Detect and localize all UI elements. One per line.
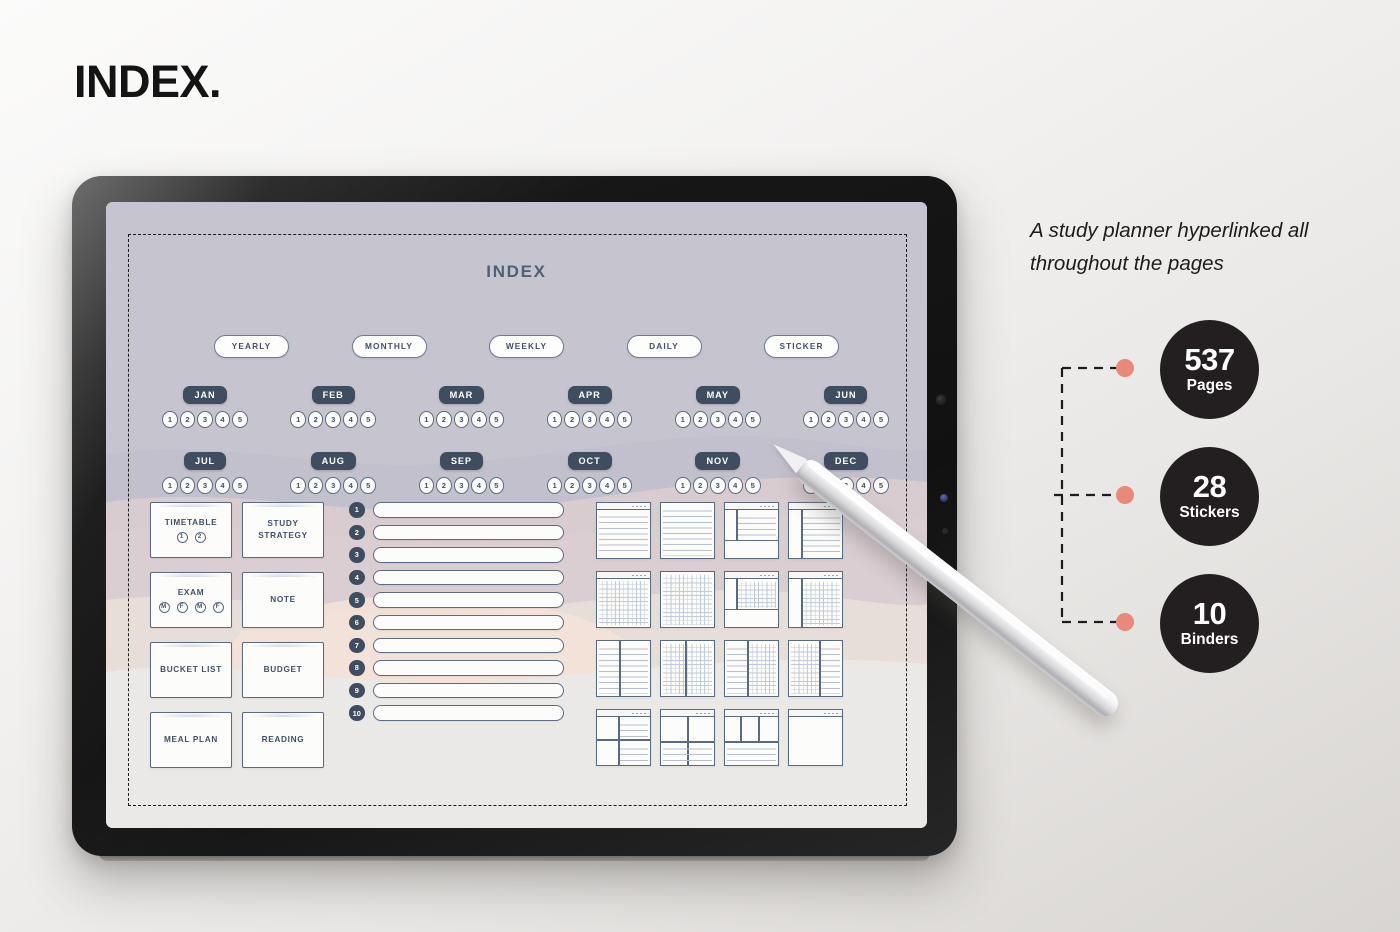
numbered-list: 1 2 3 4 5 [349,502,564,721]
month-tag[interactable]: JAN [183,386,226,404]
month-day[interactable]: 4 [215,477,231,494]
month-tag[interactable]: AUG [311,452,356,470]
camera-lens-icon [935,394,948,407]
month-day[interactable]: 5 [745,411,761,428]
card-reading[interactable]: READING [242,712,324,768]
month-day[interactable]: 4 [343,411,359,428]
card-label: BUCKET LIST [160,664,222,676]
card-badge[interactable]: F [213,602,224,613]
month-day-list: 1 2 3 4 5 [290,477,376,494]
month-day[interactable]: 5 [489,411,505,428]
list-item-field[interactable] [373,592,565,608]
card-timetable[interactable]: TIMETABLE 1 2 [150,502,232,558]
connector-dot [1116,486,1134,504]
month-day[interactable]: 4 [471,411,487,428]
paper-template-lined-sidebar[interactable] [788,502,843,559]
month-day[interactable]: 5 [745,477,761,494]
camera-sensor-icon [940,494,948,502]
paper-template-triple-column[interactable] [724,709,779,766]
month-tag[interactable]: MAR [439,386,485,404]
paper-template-quad-blocks[interactable] [660,709,715,766]
paper-template-grid-two-column[interactable] [660,640,715,697]
stat-value: 28 [1193,471,1226,502]
month-day-list: 1 2 3 4 5 [675,411,761,428]
month-day[interactable]: 4 [343,477,359,494]
month-day-list: 1 2 3 4 5 [162,477,248,494]
list-item[interactable]: 5 [349,592,564,608]
month-block-may[interactable]: MAY 1 2 3 4 5 [659,386,777,428]
list-item-number: 4 [349,570,365,586]
list-item-number: 9 [349,683,365,699]
month-day[interactable]: 2 [821,411,837,428]
card-badge[interactable]: 2 [195,532,206,543]
list-item-number: 3 [349,547,365,563]
month-day[interactable]: 2 [693,411,709,428]
month-day[interactable]: 3 [325,477,341,494]
month-day-list: 1 2 3 4 5 [547,477,633,494]
list-item-number: 10 [349,705,365,721]
month-block-jun[interactable]: JUN 1 2 3 4 5 [787,386,905,428]
connector-dot [1116,359,1134,377]
list-item[interactable]: 4 [349,570,564,586]
month-day[interactable]: 2 [436,411,452,428]
list-item[interactable]: 9 [349,683,564,699]
paper-template-split-blocks[interactable] [596,709,651,766]
month-tag[interactable]: FEB [312,386,355,404]
nav-pill-yearly[interactable]: YEARLY [214,335,289,358]
index-heading: INDEX [106,262,927,282]
month-day[interactable]: 4 [856,477,872,494]
month-day[interactable]: 1 [162,477,178,494]
month-tag[interactable]: JUN [824,386,867,404]
month-day[interactable]: 3 [582,477,598,494]
months-row-first-half: JAN 1 2 3 4 5 FEB 1 2 3 4 [146,386,905,428]
stat-badge-stickers: 28 Stickers [1160,447,1259,546]
month-tag[interactable]: NOV [695,452,740,470]
month-block-jan[interactable]: JAN 1 2 3 4 5 [146,386,264,428]
month-block-jul[interactable]: JUL 1 2 3 4 5 [146,452,264,494]
list-item-number: 2 [349,525,365,541]
month-day[interactable]: 2 [180,477,196,494]
category-card-grid: TIMETABLE 1 2 STUDY STRATEGY EXAM M F M [150,502,324,768]
nav-pill-weekly[interactable]: WEEKLY [489,335,564,358]
tagline: A study planner hyperlinked all througho… [1030,214,1370,280]
month-day[interactable]: 4 [471,477,487,494]
paper-template-grid-header[interactable] [596,571,651,628]
month-day[interactable]: 5 [873,477,889,494]
month-day[interactable]: 5 [873,411,889,428]
month-tag[interactable]: APR [568,386,612,404]
month-day-list: 1 2 3 4 5 [162,411,248,428]
card-label: STUDY STRATEGY [243,518,323,542]
month-day-list: 1 2 3 4 5 [675,477,761,494]
month-day[interactable]: 5 [232,411,248,428]
connector-dot [1116,613,1134,631]
list-item-number: 1 [349,502,365,518]
card-label: MEAL PLAN [164,734,218,746]
month-day[interactable]: 3 [325,411,341,428]
stat-label: Binders [1181,631,1239,649]
paper-template-lined-two-column[interactable] [596,640,651,697]
month-day-list: 1 2 3 4 5 [803,411,889,428]
month-day[interactable]: 1 [675,477,691,494]
paper-template-lined-plain[interactable] [660,502,715,559]
list-item[interactable]: 1 [349,502,564,518]
month-day[interactable]: 5 [232,477,248,494]
card-note[interactable]: NOTE [242,572,324,628]
stat-badge-binders: 10 Binders [1160,574,1259,673]
paper-template-grid-lined-mix[interactable] [788,640,843,697]
list-item-field[interactable] [373,615,565,631]
month-day[interactable]: 5 [489,477,505,494]
card-label: BUDGET [264,664,303,676]
list-item-number: 7 [349,638,365,654]
tablet-screen: INDEX YEARLY MONTHLY WEEKLY DAILY STICKE… [106,202,927,828]
list-item-field[interactable] [373,502,565,518]
month-day[interactable]: 1 [290,477,306,494]
card-badge[interactable]: F [177,602,188,613]
month-day[interactable]: 4 [856,411,872,428]
list-item[interactable]: 3 [349,547,564,563]
month-day[interactable]: 3 [454,411,470,428]
list-item-field[interactable] [373,683,565,699]
paper-template-grid [596,502,843,766]
month-day[interactable]: 2 [436,477,452,494]
month-day[interactable]: 3 [710,477,726,494]
camera-mic-icon [942,528,948,534]
list-item[interactable]: 2 [349,525,564,541]
list-item-field[interactable] [373,660,565,676]
list-item[interactable]: 7 [349,638,564,654]
list-item-field[interactable] [373,525,565,541]
month-day-list: 1 2 3 4 5 [419,477,505,494]
card-badge[interactable]: M [159,602,170,613]
paper-template-lined-split-left[interactable] [724,502,779,559]
list-item-number: 5 [349,592,365,608]
month-day[interactable]: 4 [728,477,744,494]
month-day[interactable]: 3 [197,477,213,494]
paper-template-lined-header[interactable] [596,502,651,559]
list-item-field[interactable] [373,705,565,721]
month-tag[interactable]: OCT [568,452,612,470]
month-day[interactable]: 1 [290,411,306,428]
month-day[interactable]: 4 [728,411,744,428]
month-block-nov[interactable]: NOV 1 2 3 4 5 [659,452,777,494]
month-tag[interactable]: SEP [440,452,483,470]
month-day[interactable]: 1 [547,411,563,428]
nav-pill-sticker[interactable]: STICKER [764,335,839,358]
card-label: TIMETABLE [165,517,218,529]
nav-pill-monthly[interactable]: MONTHLY [352,335,427,358]
card-badge[interactable]: 1 [177,532,188,543]
month-day[interactable]: 2 [564,411,580,428]
month-block-sep[interactable]: SEP 1 2 3 4 5 [402,452,520,494]
paper-template-blank-header[interactable] [788,709,843,766]
card-label: READING [262,734,305,746]
paper-template-grid-split-left[interactable] [724,571,779,628]
month-day[interactable]: 2 [180,411,196,428]
paper-template-grid-plain[interactable] [660,571,715,628]
list-item[interactable]: 8 [349,660,564,676]
card-study-strategy[interactable]: STUDY STRATEGY [242,502,324,558]
card-badge-row: M F M F [159,602,224,613]
month-day[interactable]: 1 [162,411,178,428]
month-day[interactable]: 5 [617,411,633,428]
list-item-field[interactable] [373,547,565,563]
card-badge-row: 1 2 [177,532,206,543]
month-block-oct[interactable]: OCT 1 2 3 4 5 [531,452,649,494]
month-day[interactable]: 5 [360,477,376,494]
month-day[interactable]: 1 [675,411,691,428]
card-bucket-list[interactable]: BUCKET LIST [150,642,232,698]
month-day[interactable]: 5 [360,411,376,428]
month-day[interactable]: 3 [197,411,213,428]
month-day[interactable]: 1 [803,411,819,428]
month-block-aug[interactable]: AUG 1 2 3 4 5 [274,452,392,494]
page-title: INDEX. [74,56,221,108]
month-day[interactable]: 1 [419,411,435,428]
stat-value: 537 [1184,344,1234,375]
card-label: EXAM [178,587,204,599]
tablet-device: INDEX YEARLY MONTHLY WEEKLY DAILY STICKE… [72,176,957,856]
month-day-list: 1 2 3 4 5 [547,411,633,428]
month-tag[interactable]: JUL [184,452,226,470]
month-block-apr[interactable]: APR 1 2 3 4 5 [531,386,649,428]
month-day[interactable]: 2 [308,477,324,494]
month-day[interactable]: 3 [454,477,470,494]
paper-template-grid-sidebar[interactable] [788,571,843,628]
month-day[interactable]: 4 [599,411,615,428]
card-exam[interactable]: EXAM M F M F [150,572,232,628]
month-day[interactable]: 1 [547,477,563,494]
list-item[interactable]: 6 [349,615,564,631]
card-label: NOTE [270,594,296,606]
month-tag[interactable]: MAY [696,386,740,404]
month-day[interactable]: 4 [215,411,231,428]
month-tag[interactable]: DEC [824,452,868,470]
paper-template-lined-grid-mix[interactable] [724,640,779,697]
month-day-list: 1 2 3 4 5 [419,411,505,428]
list-item-field[interactable] [373,570,565,586]
stat-badge-pages: 537 Pages [1160,320,1259,419]
list-item-field[interactable] [373,638,565,654]
nav-pill-daily[interactable]: DAILY [627,335,702,358]
month-day[interactable]: 2 [693,477,709,494]
stat-label: Stickers [1179,504,1239,522]
list-item[interactable]: 10 [349,705,564,721]
month-day[interactable]: 2 [308,411,324,428]
card-meal-plan[interactable]: MEAL PLAN [150,712,232,768]
month-day[interactable]: 1 [419,477,435,494]
month-block-feb[interactable]: FEB 1 2 3 4 5 [274,386,392,428]
nav-pill-row: YEARLY MONTHLY WEEKLY DAILY STICKER [214,335,839,358]
stat-value: 10 [1193,598,1226,629]
month-day[interactable]: 5 [617,477,633,494]
month-day-list: 1 2 3 4 5 [290,411,376,428]
stat-label: Pages [1187,377,1233,395]
list-item-number: 8 [349,660,365,676]
list-item-number: 6 [349,615,365,631]
month-day[interactable]: 3 [838,411,854,428]
month-block-mar[interactable]: MAR 1 2 3 4 5 [402,386,520,428]
month-day[interactable]: 2 [564,477,580,494]
month-day[interactable]: 3 [710,411,726,428]
card-badge[interactable]: M [195,602,206,613]
month-day[interactable]: 3 [582,411,598,428]
card-budget[interactable]: BUDGET [242,642,324,698]
month-day[interactable]: 4 [599,477,615,494]
